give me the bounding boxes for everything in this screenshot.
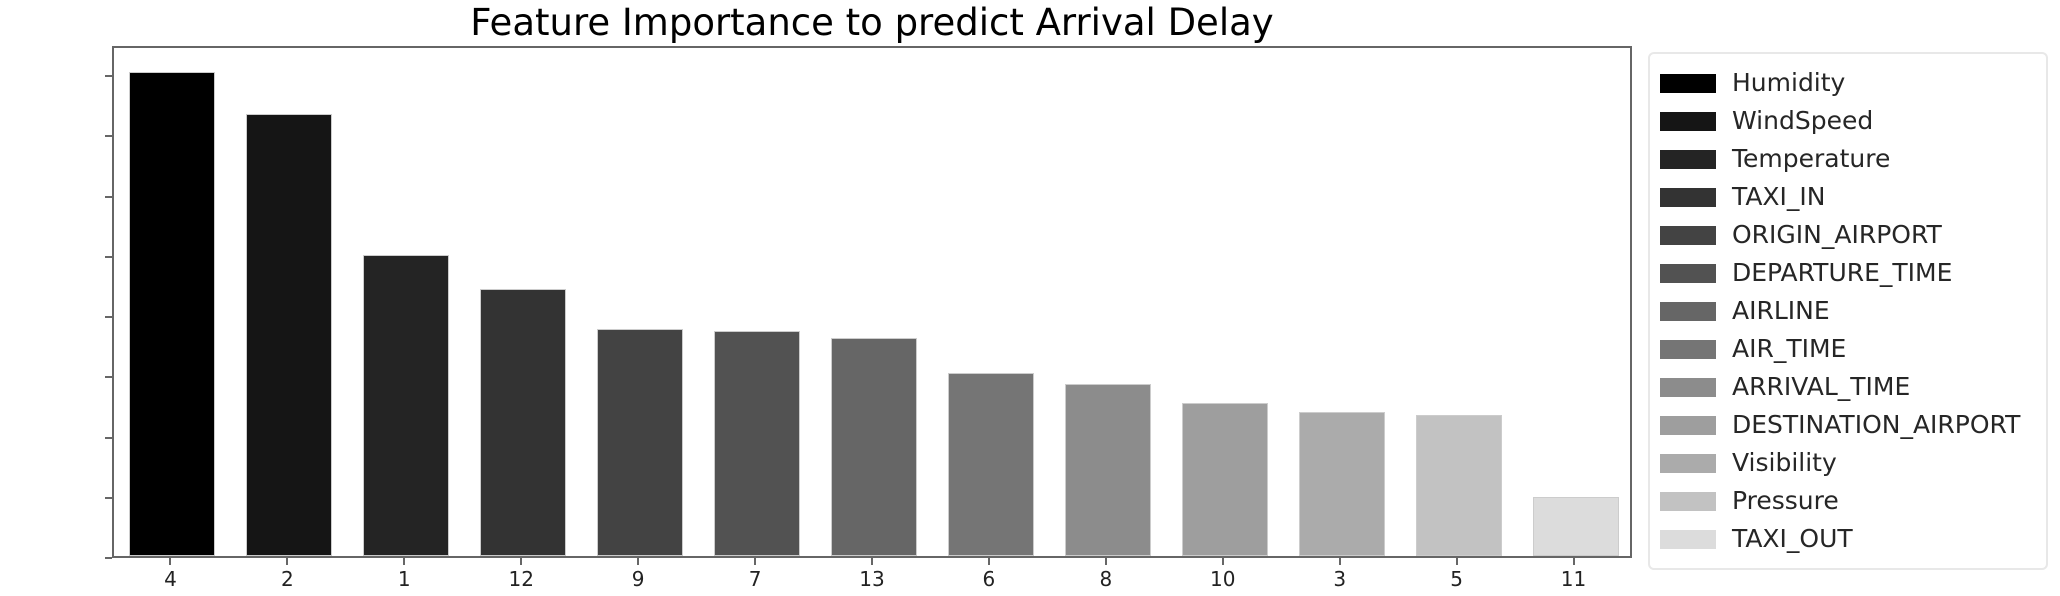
y-tick-mark bbox=[105, 75, 112, 77]
legend-item-label: Temperature bbox=[1732, 145, 1890, 173]
bar-13 bbox=[831, 338, 917, 556]
x-tick-label: 9 bbox=[588, 567, 688, 591]
x-tick-mark bbox=[871, 558, 873, 565]
bar-10 bbox=[1182, 403, 1268, 556]
x-tick-label: 1 bbox=[354, 567, 454, 591]
legend-swatch-icon bbox=[1660, 340, 1716, 359]
x-tick-mark bbox=[988, 558, 990, 565]
legend-swatch-icon bbox=[1660, 74, 1716, 93]
legend-swatch-icon bbox=[1660, 416, 1716, 435]
legend-item-label: TAXI_OUT bbox=[1732, 525, 1853, 553]
y-tick-mark bbox=[105, 196, 112, 198]
legend-item-label: TAXI_IN bbox=[1732, 183, 1826, 211]
legend-swatch-icon bbox=[1660, 188, 1716, 207]
y-tick-mark bbox=[105, 316, 112, 318]
legend-item-label: AIRLINE bbox=[1732, 297, 1830, 325]
legend-item-label: DESTINATION_AIRPORT bbox=[1732, 411, 2020, 439]
bar-6 bbox=[948, 373, 1034, 556]
y-tick-mark bbox=[105, 437, 112, 439]
y-tick-mark bbox=[105, 256, 112, 258]
legend-item[interactable]: AIR_TIME bbox=[1660, 330, 2034, 368]
x-tick-mark bbox=[1222, 558, 1224, 565]
x-tick-label: 5 bbox=[1407, 567, 1507, 591]
legend-swatch-icon bbox=[1660, 264, 1716, 283]
x-tick-label: 6 bbox=[939, 567, 1039, 591]
bar-7 bbox=[714, 331, 800, 556]
x-tick-label: 8 bbox=[1056, 567, 1156, 591]
x-tick-mark bbox=[169, 558, 171, 565]
bar-8 bbox=[1065, 384, 1151, 556]
figure-canvas: Feature Importance to predict Arrival De… bbox=[0, 0, 2060, 596]
legend-item-label: WindSpeed bbox=[1732, 107, 1873, 135]
x-tick-mark bbox=[1573, 558, 1575, 565]
legend-item-label: ARRIVAL_TIME bbox=[1732, 373, 1910, 401]
legend-item-label: ORIGIN_AIRPORT bbox=[1732, 221, 1942, 249]
legend-item[interactable]: ORIGIN_AIRPORT bbox=[1660, 216, 2034, 254]
legend-item[interactable]: Humidity bbox=[1660, 64, 2034, 102]
legend-swatch-icon bbox=[1660, 378, 1716, 397]
legend-swatch-icon bbox=[1660, 112, 1716, 131]
legend-item[interactable]: WindSpeed bbox=[1660, 102, 2034, 140]
legend-swatch-icon bbox=[1660, 150, 1716, 169]
bar-3 bbox=[1299, 412, 1385, 556]
bar-4 bbox=[129, 72, 215, 556]
x-tick-mark bbox=[1456, 558, 1458, 565]
page-title: Feature Importance to predict Arrival De… bbox=[112, 2, 1632, 44]
bar-11 bbox=[1533, 497, 1619, 556]
bar-5 bbox=[1416, 415, 1502, 556]
legend-item[interactable]: DEPARTURE_TIME bbox=[1660, 254, 2034, 292]
bar-2 bbox=[246, 114, 332, 556]
legend-item[interactable]: TAXI_IN bbox=[1660, 178, 2034, 216]
x-tick-mark bbox=[286, 558, 288, 565]
x-tick-label: 2 bbox=[237, 567, 337, 591]
legend-swatch-icon bbox=[1660, 492, 1716, 511]
legend-item[interactable]: Temperature bbox=[1660, 140, 2034, 178]
x-tick-label: 12 bbox=[471, 567, 571, 591]
legend: HumidityWindSpeedTemperatureTAXI_INORIGI… bbox=[1648, 52, 2048, 570]
legend-swatch-icon bbox=[1660, 302, 1716, 321]
legend-swatch-icon bbox=[1660, 454, 1716, 473]
x-tick-mark bbox=[754, 558, 756, 565]
bar-9 bbox=[597, 329, 683, 556]
x-tick-label: 10 bbox=[1173, 567, 1273, 591]
legend-item-label: Pressure bbox=[1732, 487, 1839, 515]
bar-1 bbox=[363, 255, 449, 556]
x-tick-label: 11 bbox=[1524, 567, 1624, 591]
legend-item-label: Humidity bbox=[1732, 69, 1845, 97]
x-tick-mark bbox=[403, 558, 405, 565]
x-tick-mark bbox=[637, 558, 639, 565]
bar-12 bbox=[480, 289, 566, 556]
legend-item[interactable]: TAXI_OUT bbox=[1660, 520, 2034, 558]
x-tick-label: 3 bbox=[1290, 567, 1390, 591]
legend-item[interactable]: Pressure bbox=[1660, 482, 2034, 520]
legend-item-label: AIR_TIME bbox=[1732, 335, 1846, 363]
legend-item[interactable]: AIRLINE bbox=[1660, 292, 2034, 330]
legend-item[interactable]: ARRIVAL_TIME bbox=[1660, 368, 2034, 406]
legend-item[interactable]: Visibility bbox=[1660, 444, 2034, 482]
legend-swatch-icon bbox=[1660, 226, 1716, 245]
y-tick-mark bbox=[105, 135, 112, 137]
x-tick-label: 7 bbox=[705, 567, 805, 591]
x-tick-label: 4 bbox=[120, 567, 220, 591]
bars-layer bbox=[114, 48, 1630, 556]
x-tick-mark bbox=[1339, 558, 1341, 565]
y-tick-mark bbox=[105, 376, 112, 378]
legend-swatch-icon bbox=[1660, 530, 1716, 549]
x-tick-mark bbox=[1105, 558, 1107, 565]
y-tick-mark bbox=[105, 557, 112, 559]
plot-area bbox=[112, 46, 1632, 558]
y-tick-mark bbox=[105, 497, 112, 499]
legend-item[interactable]: DESTINATION_AIRPORT bbox=[1660, 406, 2034, 444]
x-tick-mark bbox=[520, 558, 522, 565]
legend-item-label: Visibility bbox=[1732, 449, 1837, 477]
x-tick-label: 13 bbox=[822, 567, 922, 591]
legend-item-label: DEPARTURE_TIME bbox=[1732, 259, 1952, 287]
